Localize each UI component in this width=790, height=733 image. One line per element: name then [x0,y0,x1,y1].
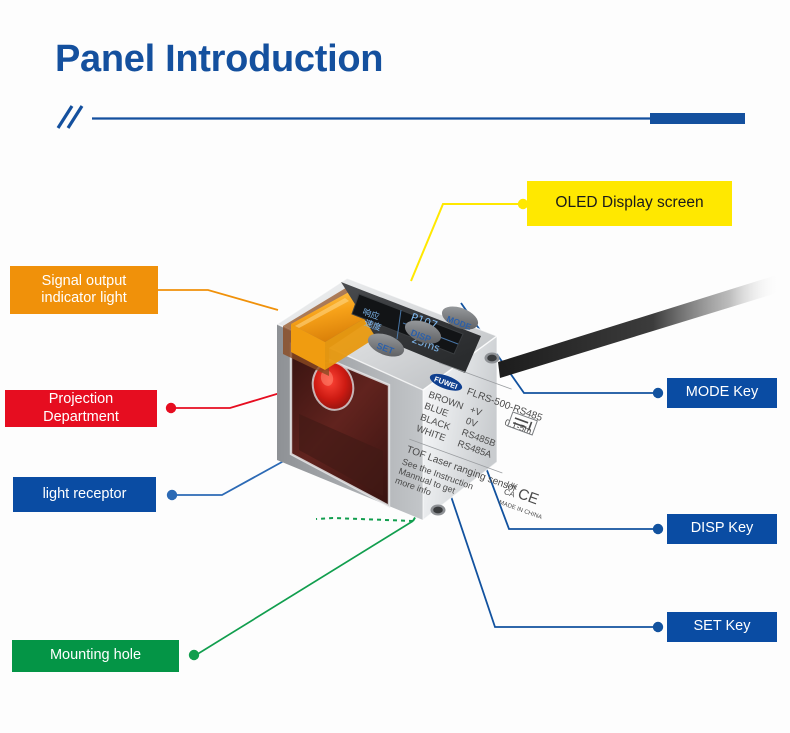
callout-light-receptor: light receptor [13,477,156,512]
callout-mounting-hole: Mounting hole [12,640,179,672]
callout-signal-output-indicator-light: Signal output indicator light [10,266,158,314]
page-title: Panel Introduction [55,38,383,81]
header-divider [0,100,790,136]
callout-mode-key: MODE Key [667,378,777,408]
cert-ce: CE [516,485,541,508]
callout-disp-key: DISP Key [667,514,777,544]
callout-oled-display-screen: OLED Display screen [527,181,732,226]
callout-set-key: SET Key [667,612,777,642]
mounting-hole-front [431,505,446,516]
mounting-hole-rear [485,353,500,364]
panel-introduction-page: Panel Introduction [0,0,790,733]
tof-laser-sensor: P107 25ms 响应 速度 SET DISP MODE [225,248,555,548]
callout-projection-department: Projection Department [5,390,157,427]
